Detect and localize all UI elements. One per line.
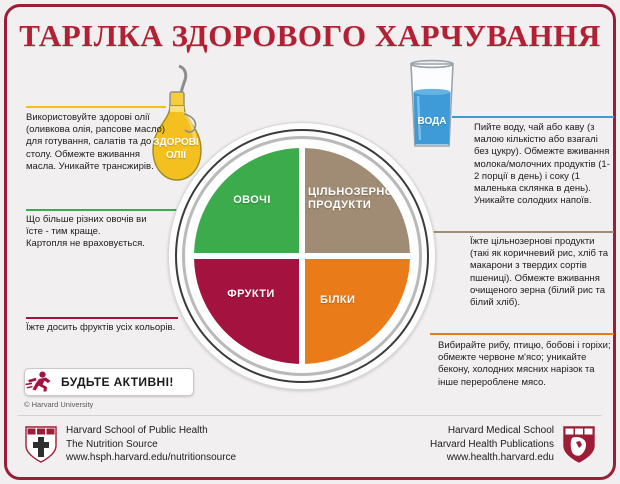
healthy-eating-plate-poster: ТАРІЛКА ЗДОРОВОГО ХАРЧУВАННЯ ОВОЧІ ЦІЛЬН…: [0, 0, 620, 484]
running-person-icon: [25, 371, 55, 393]
page-title: ТАРІЛКА ЗДОРОВОГО ХАРЧУВАННЯ: [0, 18, 620, 54]
quadrant-label-vegetables: ОВОЧІ: [212, 194, 292, 207]
quadrant-label-protein: БІЛКИ: [320, 294, 400, 307]
footer-right-line1: Harvard Medical School: [430, 424, 554, 438]
note-fruits: Їжте досить фруктів усіх кольорів.: [26, 322, 176, 334]
plate-quadrants: ОВОЧІ ЦІЛЬНОЗЕРНОВІ ПРОДУКТИ ФРУКТИ БІЛК…: [194, 148, 410, 364]
water-glass-icon: [404, 58, 460, 150]
connector-line-whole-grains: [430, 231, 614, 233]
footer-left-line1: Harvard School of Public Health: [66, 424, 236, 438]
footer-harvard-sph: Harvard School of Public Health The Nutr…: [24, 424, 236, 465]
note-healthy-oils: Використовуйте здорові олії (оливкова ол…: [26, 112, 166, 173]
harvard-medical-shield-icon: [562, 424, 596, 464]
harvard-shield-icon: [24, 424, 58, 464]
copyright-text: © Harvard University: [24, 400, 93, 409]
water-label: ВОДА: [404, 116, 460, 127]
quadrant-label-fruits: ФРУКТИ: [208, 288, 294, 301]
note-protein: Вибирайте рибу, птицю, бобові і горіхи; …: [438, 340, 614, 389]
footer-harvard-medical: Harvard Medical School Harvard Health Pu…: [430, 424, 596, 465]
stay-active-label: БУДЬТЕ АКТИВНІ!: [61, 375, 174, 389]
connector-line-protein: [430, 333, 614, 335]
quadrant-label-whole-grains: ЦІЛЬНОЗЕРНОВІ ПРОДУКТИ: [308, 186, 404, 212]
connector-line-fruits: [26, 317, 178, 319]
note-vegetables: Що більше різних овочів ви їсте - тим кр…: [26, 214, 166, 251]
footer-right-line2: Harvard Health Publications: [430, 438, 554, 452]
healthy-eating-plate: ОВОЧІ ЦІЛЬНОЗЕРНОВІ ПРОДУКТИ ФРУКТИ БІЛК…: [168, 122, 436, 390]
footer-left-line2: The Nutrition Source: [66, 438, 236, 452]
note-water: Пийте воду, чай або каву (з малою кількі…: [474, 122, 614, 207]
footer-right-text: Harvard Medical School Harvard Health Pu…: [430, 424, 554, 465]
note-whole-grains: Їжте цільнозернові продукти (такі як кор…: [470, 236, 616, 309]
water-glass: ВОДА: [404, 58, 460, 150]
footer-left-text: Harvard School of Public Health The Nutr…: [66, 424, 236, 465]
footer-divider: [18, 415, 602, 416]
connector-line-vegetables: [26, 209, 178, 211]
footer-left-line3[interactable]: www.hsph.harvard.edu/nutritionsource: [66, 451, 236, 465]
stay-active-badge[interactable]: БУДЬТЕ АКТИВНІ!: [24, 368, 194, 396]
footer-right-line3[interactable]: www.health.harvard.edu: [430, 451, 554, 465]
connector-line-water: [452, 116, 614, 118]
